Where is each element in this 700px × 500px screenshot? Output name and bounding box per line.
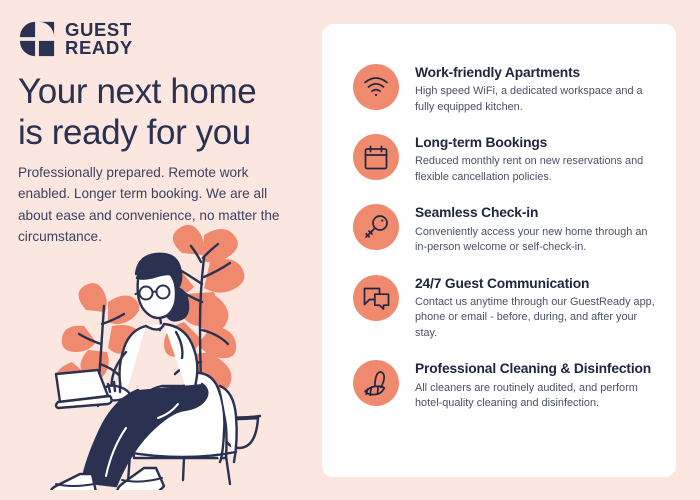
brand-name-line2: READY (65, 39, 133, 57)
feature-title: Seamless Check-in (415, 204, 656, 221)
feature-description: Conveniently access your new home throug… (415, 225, 656, 256)
feature-description: High speed WiFi, a dedicated workspace a… (415, 84, 656, 115)
page-title: Your next home is ready for you (18, 72, 308, 153)
feature-title: 24/7 Guest Communication (415, 275, 656, 292)
guestready-quadrant-mark-icon (18, 20, 56, 58)
broom-icon (353, 360, 399, 406)
feature-text: Work-friendly Apartments High speed WiFi… (415, 62, 656, 115)
feature-title: Long-term Bookings (415, 134, 656, 151)
feature-description: Reduced monthly rent on new reservations… (415, 154, 656, 185)
feature-text: Long-term Bookings Reduced monthly rent … (415, 132, 656, 185)
hero-column: GUEST READY Your next home is ready for … (0, 0, 322, 500)
feature-text: Seamless Check-in Conveniently access yo… (415, 202, 656, 255)
list-item[interactable]: Seamless Check-in Conveniently access yo… (353, 202, 656, 255)
feature-description: All cleaners are routinely audited, and … (415, 381, 656, 412)
headline-line-1: Your next home (18, 72, 308, 113)
marketing-page: GUEST READY Your next home is ready for … (0, 0, 700, 500)
key-icon (353, 204, 399, 250)
list-item[interactable]: Long-term Bookings Reduced monthly rent … (353, 132, 656, 185)
feature-title: Work-friendly Apartments (415, 64, 656, 81)
list-item[interactable]: 24/7 Guest Communication Contact us anyt… (353, 273, 656, 342)
features-list: Work-friendly Apartments High speed WiFi… (322, 24, 676, 412)
brand-logo[interactable]: GUEST READY (18, 20, 133, 58)
features-card: Work-friendly Apartments High speed WiFi… (322, 24, 676, 477)
list-item[interactable]: Professional Cleaning & Disinfection All… (353, 358, 656, 411)
hero-illustration (34, 222, 322, 490)
feature-text: Professional Cleaning & Disinfection All… (415, 358, 656, 411)
headline-line-2: is ready for you (18, 113, 308, 154)
wifi-icon (353, 64, 399, 110)
feature-title: Professional Cleaning & Disinfection (415, 360, 656, 377)
calendar-icon (353, 134, 399, 180)
feature-description: Contact us anytime through our GuestRead… (415, 295, 656, 341)
chat-bubbles-icon (353, 275, 399, 321)
brand-wordmark: GUEST READY (65, 21, 133, 56)
list-item[interactable]: Work-friendly Apartments High speed WiFi… (353, 62, 656, 115)
feature-text: 24/7 Guest Communication Contact us anyt… (415, 273, 656, 342)
